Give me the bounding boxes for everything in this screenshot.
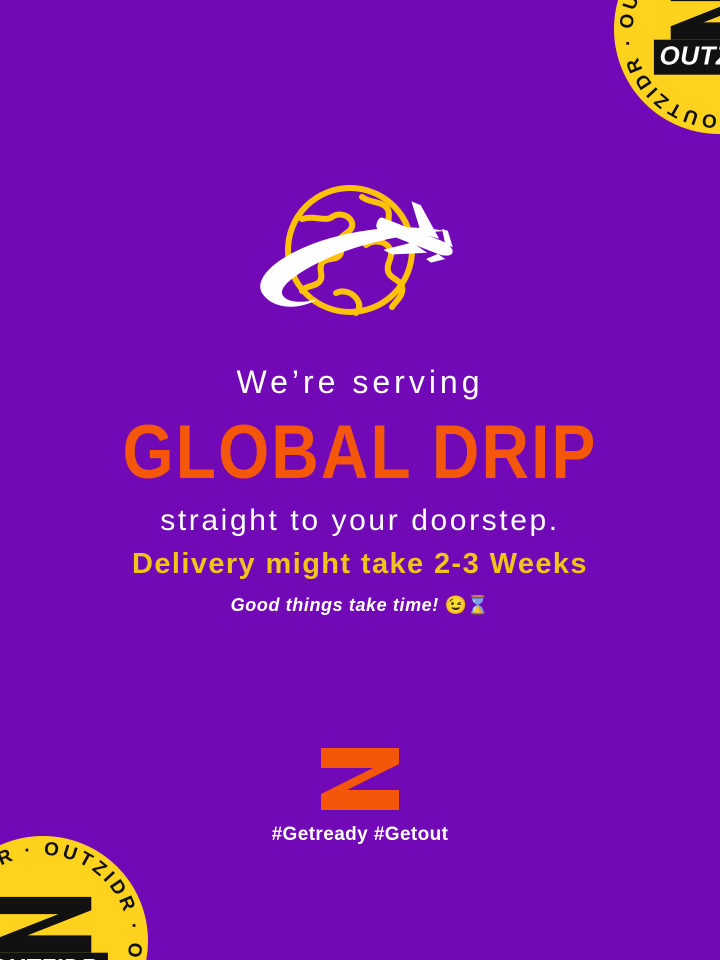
badge-wordmark: OUTZIDR [654, 40, 720, 75]
brand-z-logo [321, 748, 399, 810]
badge-z-icon [0, 897, 108, 953]
hashtags: #Getready #Getout [272, 824, 449, 846]
globe-airplane-illustration [0, 175, 720, 335]
badge-core: OUTZIDR [0, 893, 108, 960]
delivery-tagline: Good things take time! 😉⌛ [0, 595, 720, 616]
headline-subline: straight to your doorstep. [0, 504, 720, 538]
delivery-notice: Delivery might take 2-3 Weeks Good thing… [0, 548, 720, 616]
badge-z-icon [654, 0, 720, 40]
badge-wordmark: OUTZIDR [0, 953, 108, 960]
brand-badge-top-right: OUTZIDR · OUTZIDR · OUTZIDR · OUTZIDR · … [614, 0, 720, 134]
tagline-emoji: 😉⌛ [445, 595, 490, 615]
promo-poster: We’re serving GLOBAL DRIP straight to yo… [0, 0, 720, 960]
footer-brand: #Getready #Getout [0, 748, 720, 846]
headline-eyebrow: We’re serving [0, 362, 720, 402]
page-title: GLOBAL DRIP [0, 416, 720, 492]
brand-badge-bottom-left: OUTZIDR · OUTZIDR · OUTZIDR · OUTZIDR · … [0, 836, 148, 960]
badge-core: OUTZIDR [654, 0, 720, 77]
delivery-tagline-text: Good things take time! [231, 595, 439, 615]
headline-block: We’re serving GLOBAL DRIP straight to yo… [0, 362, 720, 538]
delivery-headline: Delivery might take 2-3 Weeks [0, 548, 720, 581]
